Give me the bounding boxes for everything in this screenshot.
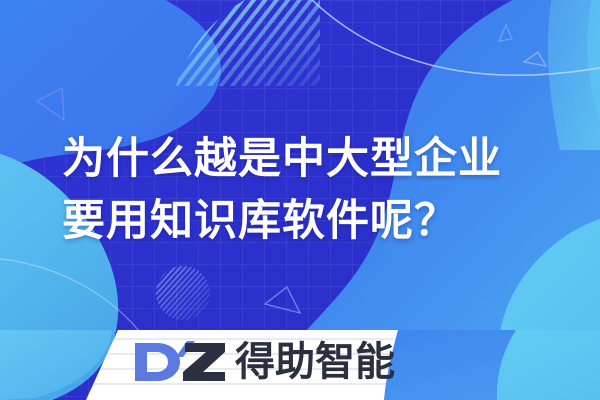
logo-band — [0, 330, 600, 400]
promo-banner: 为什么越是中大型企业 要用知识库软件呢？ — [0, 0, 600, 400]
striped-circle-decoration — [156, 266, 210, 320]
